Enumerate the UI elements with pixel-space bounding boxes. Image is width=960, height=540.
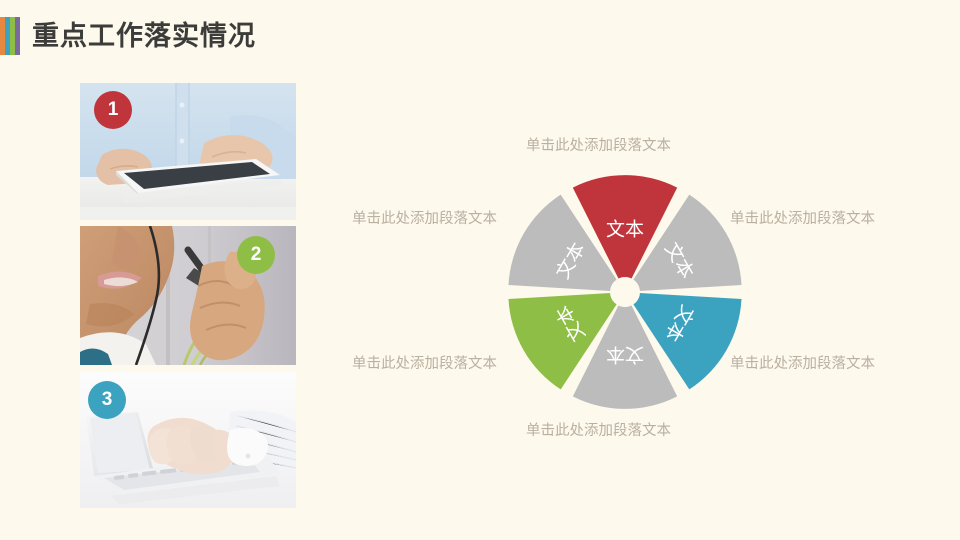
slide-root: 重点工作落实情况 [0,0,960,540]
photo-badge-2: 2 [237,236,275,274]
photo-laptop: 3 [80,372,296,508]
callout-right-upper[interactable]: 单击此处添加段落文本 [730,211,875,228]
tick-purple [15,17,20,55]
title-accent-ticks [0,17,22,55]
donut-chart-svg: 文本 文本 文本 文本 文本 文本 [505,172,745,412]
callout-top[interactable]: 单击此处添加段落文本 [526,138,671,155]
photo-headset: 2 [80,226,296,365]
callout-right-lower[interactable]: 单击此处添加段落文本 [730,356,875,373]
photo-badge-1: 1 [94,91,132,129]
callout-left-lower[interactable]: 单击此处添加段落文本 [352,356,497,373]
slice-label-bottom: 文本 [606,344,644,366]
photo-tablet: 1 [80,83,296,220]
donut-chart: 文本 文本 文本 文本 文本 文本 [505,172,745,412]
slice-label-top: 文本 [606,219,644,241]
photo-badge-3: 3 [88,381,126,419]
slide-title-bar: 重点工作落实情况 [0,14,256,58]
callout-bottom[interactable]: 单击此处添加段落文本 [526,423,671,440]
page-title: 重点工作落实情况 [32,23,256,50]
donut-center-hub [610,277,640,307]
callout-left-upper[interactable]: 单击此处添加段落文本 [352,211,497,228]
